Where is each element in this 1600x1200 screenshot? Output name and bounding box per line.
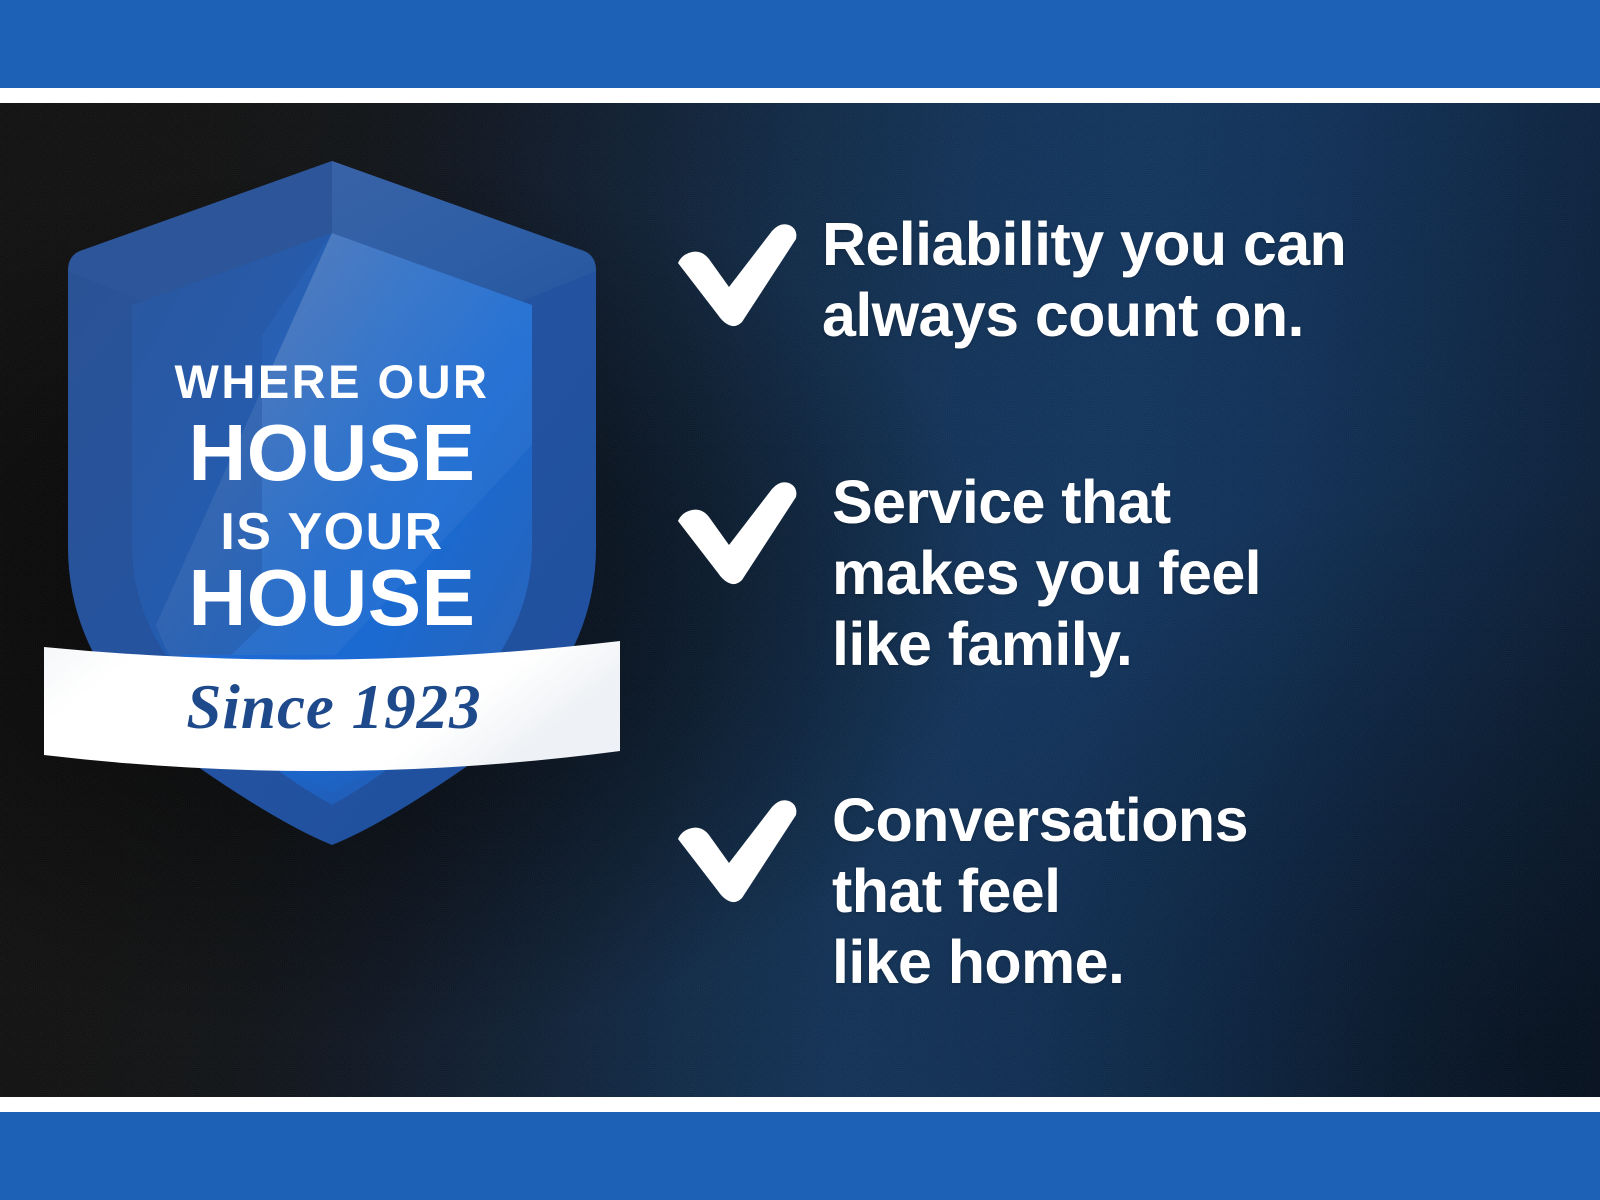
top-white-strip [0,88,1600,103]
top-blue-bar [0,0,1600,88]
since-ribbon: Since 1923 [44,641,620,771]
banner-canvas: WHERE OUR HOUSE IS YOUR HOUSE Since 1923… [0,0,1600,1200]
badge-line-4: HOUSE [189,553,476,642]
shield-badge: WHERE OUR HOUSE IS YOUR HOUSE Since 1923 [62,155,602,845]
benefit-text: Reliability you can always count on. [822,209,1512,351]
benefit-item-conversations: Conversations that feel like home. [672,785,1512,997]
checkmark-icon [672,467,822,587]
checkmark-icon [672,785,822,905]
ribbon-label: Since 1923 [186,672,481,742]
benefits-list: Reliability you can always count on. Ser… [672,195,1512,1025]
checkmark-icon [672,209,822,329]
benefit-item-reliability: Reliability you can always count on. [672,209,1512,351]
badge-line-2: HOUSE [189,408,476,497]
bottom-white-strip [0,1097,1600,1112]
benefit-item-service: Service that makes you feel like family. [672,467,1512,679]
bottom-blue-bar [0,1112,1600,1200]
badge-line-1: WHERE OUR [175,355,490,408]
benefit-text: Service that makes you feel like family. [822,467,1512,679]
benefit-text: Conversations that feel like home. [822,785,1512,997]
